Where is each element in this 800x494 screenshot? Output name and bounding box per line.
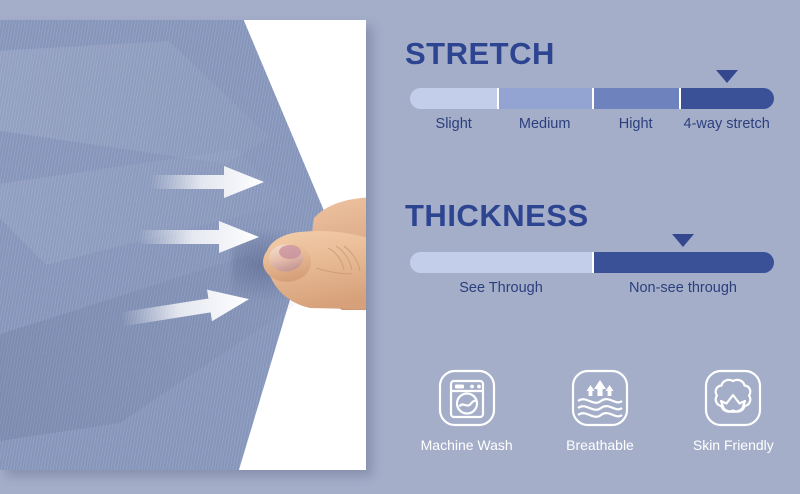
- meter-segment-label: Medium: [497, 116, 592, 132]
- stretch-heading: STRETCH: [405, 36, 555, 72]
- stretch-bar: [410, 88, 774, 109]
- stretch-scale-labels: SlightMediumHight4-way stretch: [410, 116, 774, 132]
- product-photo-panel: [0, 20, 366, 470]
- breathable-icon: [570, 368, 630, 428]
- washing-machine-icon: [437, 368, 497, 428]
- meter-segment-label: Hight: [592, 116, 679, 132]
- thickness-meter: See ThroughNon-see through: [410, 252, 774, 296]
- thickness-scale-labels: See ThroughNon-see through: [410, 280, 774, 296]
- meter-segment-label: Non-see through: [592, 280, 774, 296]
- meter-segment: [497, 88, 592, 109]
- meter-segment-label: See Through: [410, 280, 592, 296]
- feature-skin-friendly: Skin Friendly: [667, 368, 800, 453]
- meter-segment: [592, 88, 679, 109]
- feature-label: Machine Wash: [421, 437, 513, 453]
- stretch-arrow-icon: [138, 220, 260, 254]
- meter-segment: [679, 88, 774, 109]
- feature-breathable: Breathable: [533, 368, 666, 453]
- feature-label: Skin Friendly: [693, 437, 774, 453]
- meter-segment: [410, 88, 497, 109]
- meter-segment: [410, 252, 592, 273]
- meter-segment: [592, 252, 774, 273]
- feature-label: Breathable: [566, 437, 634, 453]
- feature-machine-wash: Machine Wash: [400, 368, 533, 453]
- cotton-boll-icon: [703, 368, 763, 428]
- thickness-heading: THICKNESS: [405, 198, 589, 234]
- thickness-level-marker: [672, 234, 694, 247]
- meter-segment-label: Slight: [410, 116, 497, 132]
- stretch-level-marker: [716, 70, 738, 83]
- hand-pinching-fabric: [250, 190, 366, 325]
- stretch-arrow-icon: [150, 165, 265, 199]
- feature-icon-row: Machine Wash: [400, 368, 800, 453]
- specs-column: STRETCH SlightMediumHight4-way stretch T…: [400, 0, 800, 494]
- meter-segment-label: 4-way stretch: [679, 116, 774, 132]
- stretch-meter: SlightMediumHight4-way stretch: [410, 88, 774, 132]
- thickness-bar: [410, 252, 774, 273]
- infographic-stage: STRETCH SlightMediumHight4-way stretch T…: [0, 0, 800, 494]
